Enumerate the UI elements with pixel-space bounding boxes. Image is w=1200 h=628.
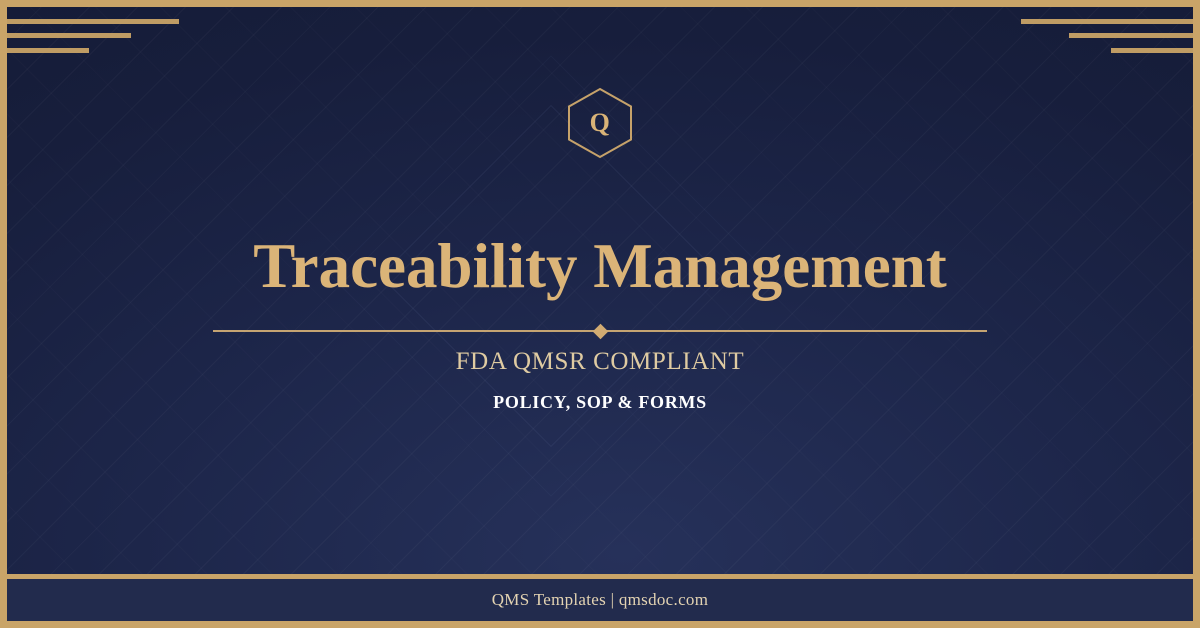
title-slide: Q Traceability Management FDA QMSR COMPL…: [0, 0, 1200, 628]
corner-ornament-top-left: [7, 0, 187, 80]
ornament-line: [7, 48, 89, 53]
background-diamond-outline-inner: [380, 105, 722, 447]
diamond-icon: [592, 323, 608, 339]
frame-border-right: [1193, 0, 1200, 628]
footer-text: QMS Templates | qmsdoc.com: [492, 590, 709, 610]
footer-bar: QMS Templates | qmsdoc.com: [0, 574, 1200, 621]
background-diamond-outline-outer: [330, 55, 771, 496]
ornament-line: [7, 33, 131, 38]
page-title: Traceability Management: [0, 232, 1200, 301]
ornament-line: [1069, 33, 1193, 38]
frame-border-bottom: [0, 621, 1200, 628]
ornament-line: [1021, 19, 1193, 24]
document-scope-label: POLICY, SOP & FORMS: [0, 392, 1200, 413]
ornamental-divider: [213, 324, 987, 338]
corner-ornament-top-right: [1013, 0, 1193, 80]
logo-letter: Q: [565, 86, 635, 160]
frame-border-left: [0, 0, 7, 628]
ornament-line: [1111, 48, 1193, 53]
hexagon-logo-icon: Q: [565, 86, 635, 160]
frame-border-top: [0, 0, 1200, 7]
ornament-line: [7, 19, 179, 24]
subtitle: FDA QMSR COMPLIANT: [0, 348, 1200, 376]
divider-line: [213, 330, 987, 332]
